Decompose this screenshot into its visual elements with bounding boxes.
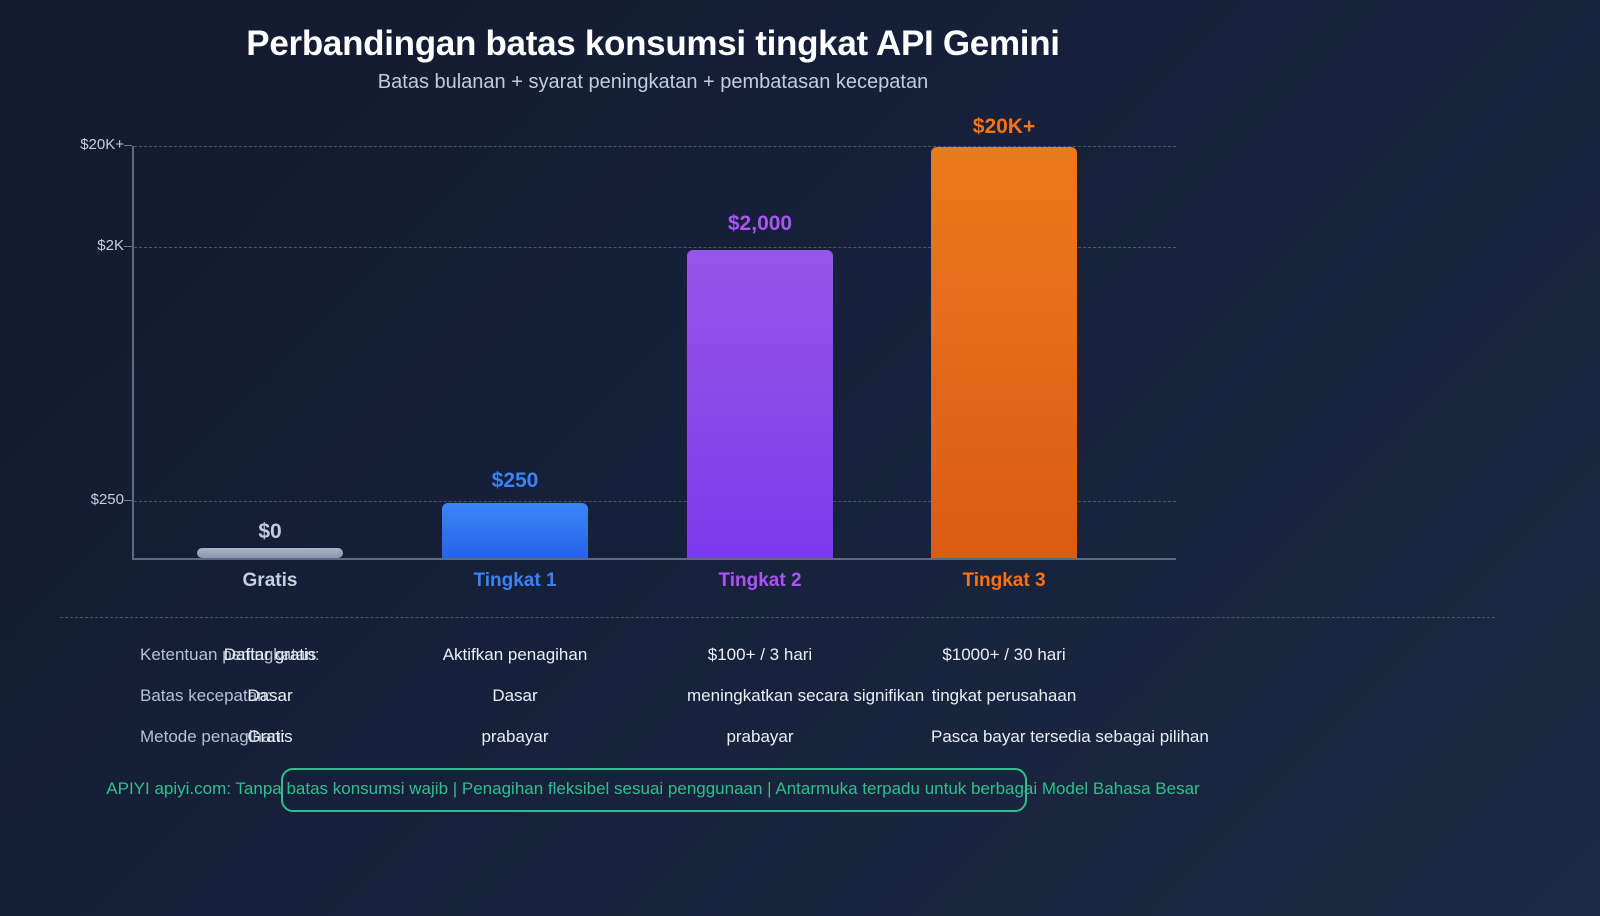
bar-tingkat-1[interactable] [442, 503, 588, 558]
bar-gratis[interactable] [197, 548, 343, 558]
cell-ketentuan-tingkat-2: $100+ / 3 hari [687, 645, 833, 665]
tick-mark-icon [124, 500, 132, 501]
section-divider [60, 617, 1495, 618]
cell-kecepatan-tingkat-1: Dasar [442, 686, 588, 706]
cell-kecepatan-tingkat-3: tingkat perusahaan [931, 686, 1077, 706]
bar-value-tingkat-1: $250 [442, 469, 588, 493]
footer-text: APIYI apiyi.com: Tanpa batas konsumsi wa… [0, 779, 1306, 799]
cell-penagihan-gratis: Gratis [197, 727, 343, 747]
cell-kecepatan-tingkat-2: meningkatkan secara signifikan [687, 686, 833, 706]
y-tick-label-2k: $2K [44, 237, 124, 254]
bar-tingkat-3[interactable] [931, 147, 1077, 558]
bar-value-tingkat-2: $2,000 [687, 212, 833, 236]
cell-ketentuan-gratis: Daftar gratis [197, 645, 343, 665]
category-label-tingkat-3: Tingkat 3 [931, 570, 1077, 592]
y-axis-line [132, 146, 134, 560]
cell-penagihan-tingkat-1: prabayar [442, 727, 588, 747]
category-label-tingkat-2: Tingkat 2 [687, 570, 833, 592]
y-tick-label-20k: $20K+ [44, 136, 124, 153]
bar-value-tingkat-3: $20K+ [931, 115, 1077, 139]
bar-value-gratis: $0 [197, 520, 343, 544]
cell-ketentuan-tingkat-3: $1000+ / 30 hari [931, 645, 1077, 665]
category-label-tingkat-1: Tingkat 1 [442, 570, 588, 592]
chart-canvas: Perbandingan batas konsumsi tingkat API … [0, 0, 1600, 916]
category-label-gratis: Gratis [197, 570, 343, 592]
cell-penagihan-tingkat-3: Pasca bayar tersedia sebagai pilihan [931, 727, 1077, 747]
cell-kecepatan-gratis: Dasar [197, 686, 343, 706]
bar-tingkat-2[interactable] [687, 250, 833, 558]
tick-mark-icon [124, 145, 132, 146]
tick-mark-icon [124, 246, 132, 247]
cell-penagihan-tingkat-2: prabayar [687, 727, 833, 747]
y-tick-label-250: $250 [44, 491, 124, 508]
cell-ketentuan-tingkat-1: Aktifkan penagihan [442, 645, 588, 665]
x-axis-line [132, 558, 1176, 560]
